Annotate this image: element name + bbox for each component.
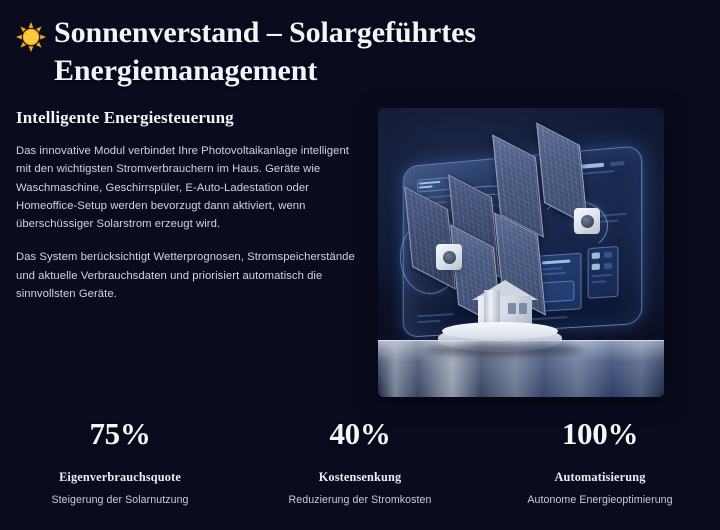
pedestal-shadow — [424, 344, 584, 356]
stat-label: Automatisierung — [490, 470, 710, 485]
hud-bar — [592, 252, 600, 259]
floor-horizon-line — [378, 340, 664, 341]
stat-card-eigenverbrauchsquote: 75% Eigenverbrauchsquote Steigerung der … — [0, 418, 240, 506]
house-window — [508, 303, 516, 314]
stat-card-kostensenkung: 40% Kostensenkung Reduzierung der Stromk… — [240, 418, 480, 506]
title-row: Sonnenverstand – Solargeführtes Energiem… — [16, 14, 496, 90]
stat-card-automatisierung: 100% Automatisierung Autonome Energieopt… — [480, 418, 720, 506]
illustration-panel — [378, 108, 664, 397]
page-title: Sonnenverstand – Solargeführtes Energiem… — [54, 14, 496, 90]
illustration-artwork — [378, 108, 664, 397]
house-window — [519, 303, 527, 314]
stat-description: Autonome Energieoptimierung — [490, 494, 710, 506]
hud-bar — [592, 263, 600, 270]
hud-bar — [604, 263, 612, 270]
pedestal-top — [442, 322, 558, 340]
slide-title-block: Sonnenverstand – Solargeführtes Energiem… — [16, 14, 496, 90]
section-heading: Intelligente Energiesteuerung — [16, 108, 356, 128]
stat-value: 75% — [10, 418, 230, 451]
sun-icon — [16, 22, 46, 52]
stat-value: 40% — [250, 418, 470, 451]
stat-label: Eigenverbrauchsquote — [10, 470, 230, 485]
stat-label: Kostensenkung — [250, 470, 470, 485]
hud-widget-thumbnail — [542, 280, 574, 302]
smart-plug-node-left — [436, 244, 462, 270]
body-paragraph-2: Das System berücksichtigt Wetterprognose… — [16, 248, 356, 303]
body-paragraph-1: Das innovative Modul verbindet Ihre Phot… — [16, 142, 356, 233]
smart-plug-node-right — [574, 208, 600, 234]
hud-bar — [604, 251, 612, 258]
stat-value: 100% — [490, 418, 710, 451]
stat-description: Reduzierung der Stromkosten — [250, 494, 470, 506]
text-column: Intelligente Energiesteuerung Das innova… — [16, 108, 356, 303]
stats-row: 75% Eigenverbrauchsquote Steigerung der … — [0, 418, 720, 506]
stat-description: Steigerung der Solarnutzung — [10, 494, 230, 506]
slide-root: Sonnenverstand – Solargeführtes Energiem… — [0, 0, 720, 530]
